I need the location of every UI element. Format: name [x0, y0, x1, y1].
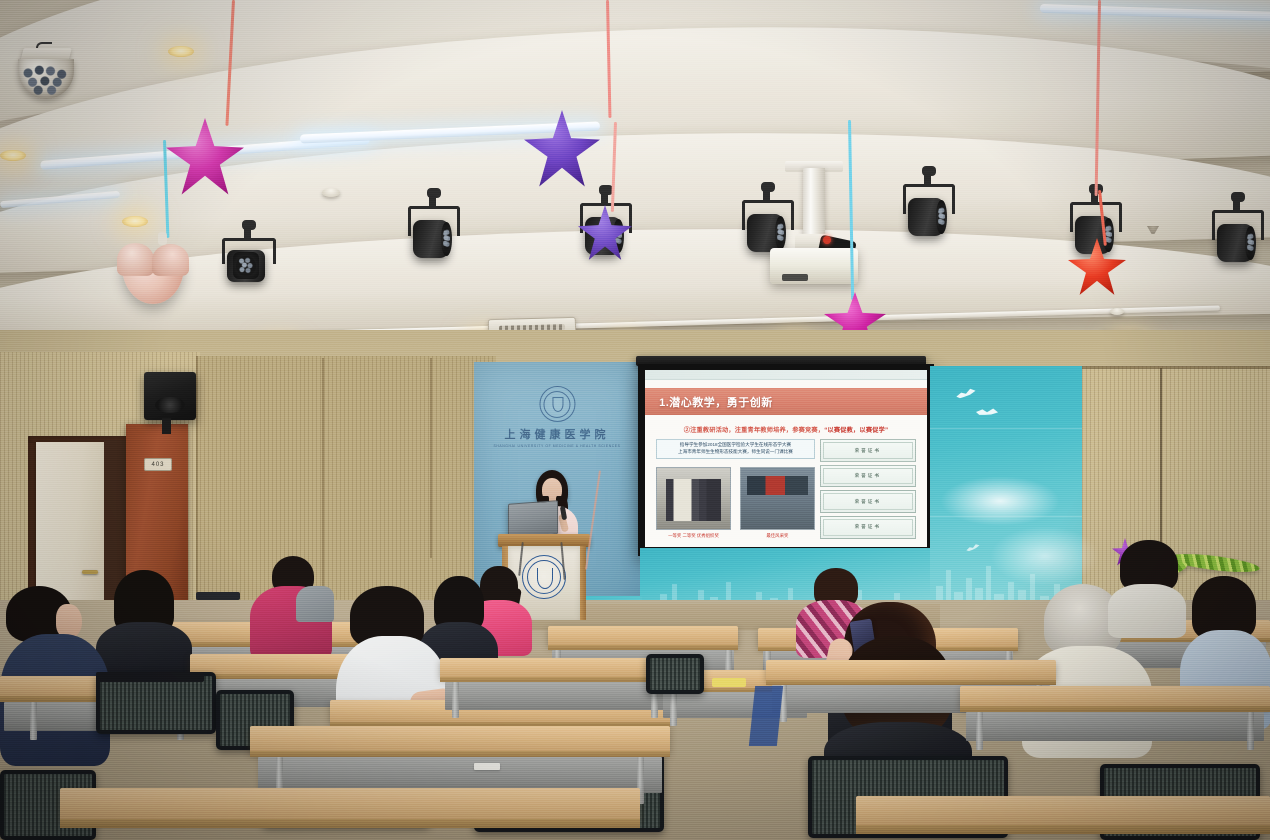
wall-speaker	[144, 372, 196, 420]
slide-photo-award-ceremony	[656, 467, 730, 530]
ceiling-downlight	[122, 216, 148, 227]
slide-photo-classroom	[740, 467, 814, 530]
teal-mural-wall	[930, 366, 1082, 616]
slide-photo-row: 一等奖 二等奖 优秀组织奖 最佳风采奖	[656, 467, 814, 539]
slide-photo-1-caption: 一等奖 二等奖 优秀组织奖	[656, 533, 730, 539]
smoke-detector-icon	[322, 188, 340, 197]
classroom-desk	[440, 658, 670, 718]
slide-title: 1.潜心教学，勇于创新	[645, 388, 927, 415]
slide-certificate-column: 荣誉证书 荣誉证书 荣誉证书 荣誉证书	[820, 439, 916, 538]
mesh-back-chair[interactable]	[646, 654, 704, 694]
university-name-cn: 上海健康医学院	[493, 426, 620, 442]
desk-label-tag	[474, 763, 500, 770]
slide-body: 指导学生参加2018全国医学检验大学生在线形态学大赛 上海市青年师生生物形态技能…	[645, 434, 927, 547]
room-number-text: 403	[151, 462, 164, 468]
presenter-laptop[interactable]	[508, 500, 558, 537]
desk-item	[196, 592, 240, 600]
certificate-label: 荣誉证书	[855, 524, 881, 530]
desk-monitor-edge	[96, 672, 204, 682]
projector-status-led	[823, 236, 831, 244]
projection-screen: 1.潜心教学，勇于创新 ②注重教研活动，注重青年教师培养，参赛竞赛，“以赛促教，…	[645, 370, 927, 547]
certificate-label: 荣誉证书	[855, 473, 881, 479]
ceiling-downlight	[0, 150, 26, 161]
lecture-hall-photo: 403 上海健康医学院 SHANGHAI UNIVERSITY OF MEDIC…	[0, 0, 1270, 840]
certificate-item: 荣誉证书	[820, 516, 916, 539]
certificate-item: 荣誉证书	[820, 465, 916, 488]
mural-cloud	[940, 476, 1060, 526]
disco-ball-light	[18, 48, 74, 104]
certificate-label: 荣誉证书	[855, 499, 881, 505]
stage-par-light	[1070, 202, 1116, 254]
mural-dove	[975, 405, 998, 420]
stage-par-light	[903, 184, 949, 236]
attendee-back-right	[1108, 540, 1188, 632]
projection-screen-frame: 1.潜心教学，勇于创新 ②注重教研活动，注重青年教师培养，参赛竞赛，“以赛促教，…	[638, 364, 934, 556]
classroom-desk-foreground	[856, 796, 1270, 840]
heart-balloon-pink	[116, 240, 190, 304]
slide-top-band	[645, 370, 927, 380]
certificate-item: 荣誉证书	[820, 490, 916, 513]
ceiling-downlight	[168, 46, 194, 57]
certificate-item: 荣誉证书	[820, 439, 916, 462]
slide-photo-2-caption: 最佳风采奖	[740, 533, 814, 539]
yellow-desk-item	[712, 678, 746, 687]
university-name-en: SHANGHAI UNIVERSITY OF MEDICINE & HEALTH…	[493, 444, 620, 448]
mural-dove	[965, 542, 981, 554]
mural-dove	[955, 386, 977, 402]
certificate-label: 荣誉证书	[855, 448, 881, 454]
university-logo-backdrop: 上海健康医学院 SHANGHAI UNIVERSITY OF MEDICINE …	[493, 386, 620, 448]
slide-subtitle-prefix: ②注重教研活动，注重青年教师培养，参赛竞赛，	[684, 427, 825, 434]
smoke-detector-icon	[1110, 308, 1124, 315]
stage-par-light	[1212, 210, 1258, 262]
ceiling-projector	[770, 168, 858, 288]
speaker-bracket	[162, 418, 171, 434]
attendee-pink-hoodie	[248, 556, 334, 656]
room-number-plate: 403	[144, 458, 172, 471]
classroom-desk-foreground	[60, 788, 640, 840]
projector-lens	[782, 274, 808, 281]
slide-left-column: 指导学生参加2018全国医学检验大学生在线形态学大赛 上海市青年师生生物形态技能…	[656, 439, 814, 538]
university-seal-icon	[539, 386, 575, 422]
stage-par-light	[408, 206, 454, 258]
slide-subtitle: ②注重教研活动，注重青年教师培养，参赛竞赛，“以赛促教，以赛促学”	[656, 425, 915, 434]
classroom-desk	[960, 686, 1270, 750]
presentation-slide: 1.潜心教学，勇于创新 ②注重教研活动，注重青年教师培养，参赛竞赛，“以赛促教，…	[645, 370, 927, 547]
slide-subtitle-quote: “以赛促教，以赛促学”	[824, 427, 888, 434]
slide-caption-line-2: 上海市青年师生生物形态技能大赛，师生同说一门课比赛	[660, 449, 810, 456]
stage-par-light	[222, 238, 270, 282]
slide-caption-box: 指导学生参加2018全国医学检验大学生在线形态学大赛 上海市青年师生生物形态技能…	[656, 439, 814, 459]
